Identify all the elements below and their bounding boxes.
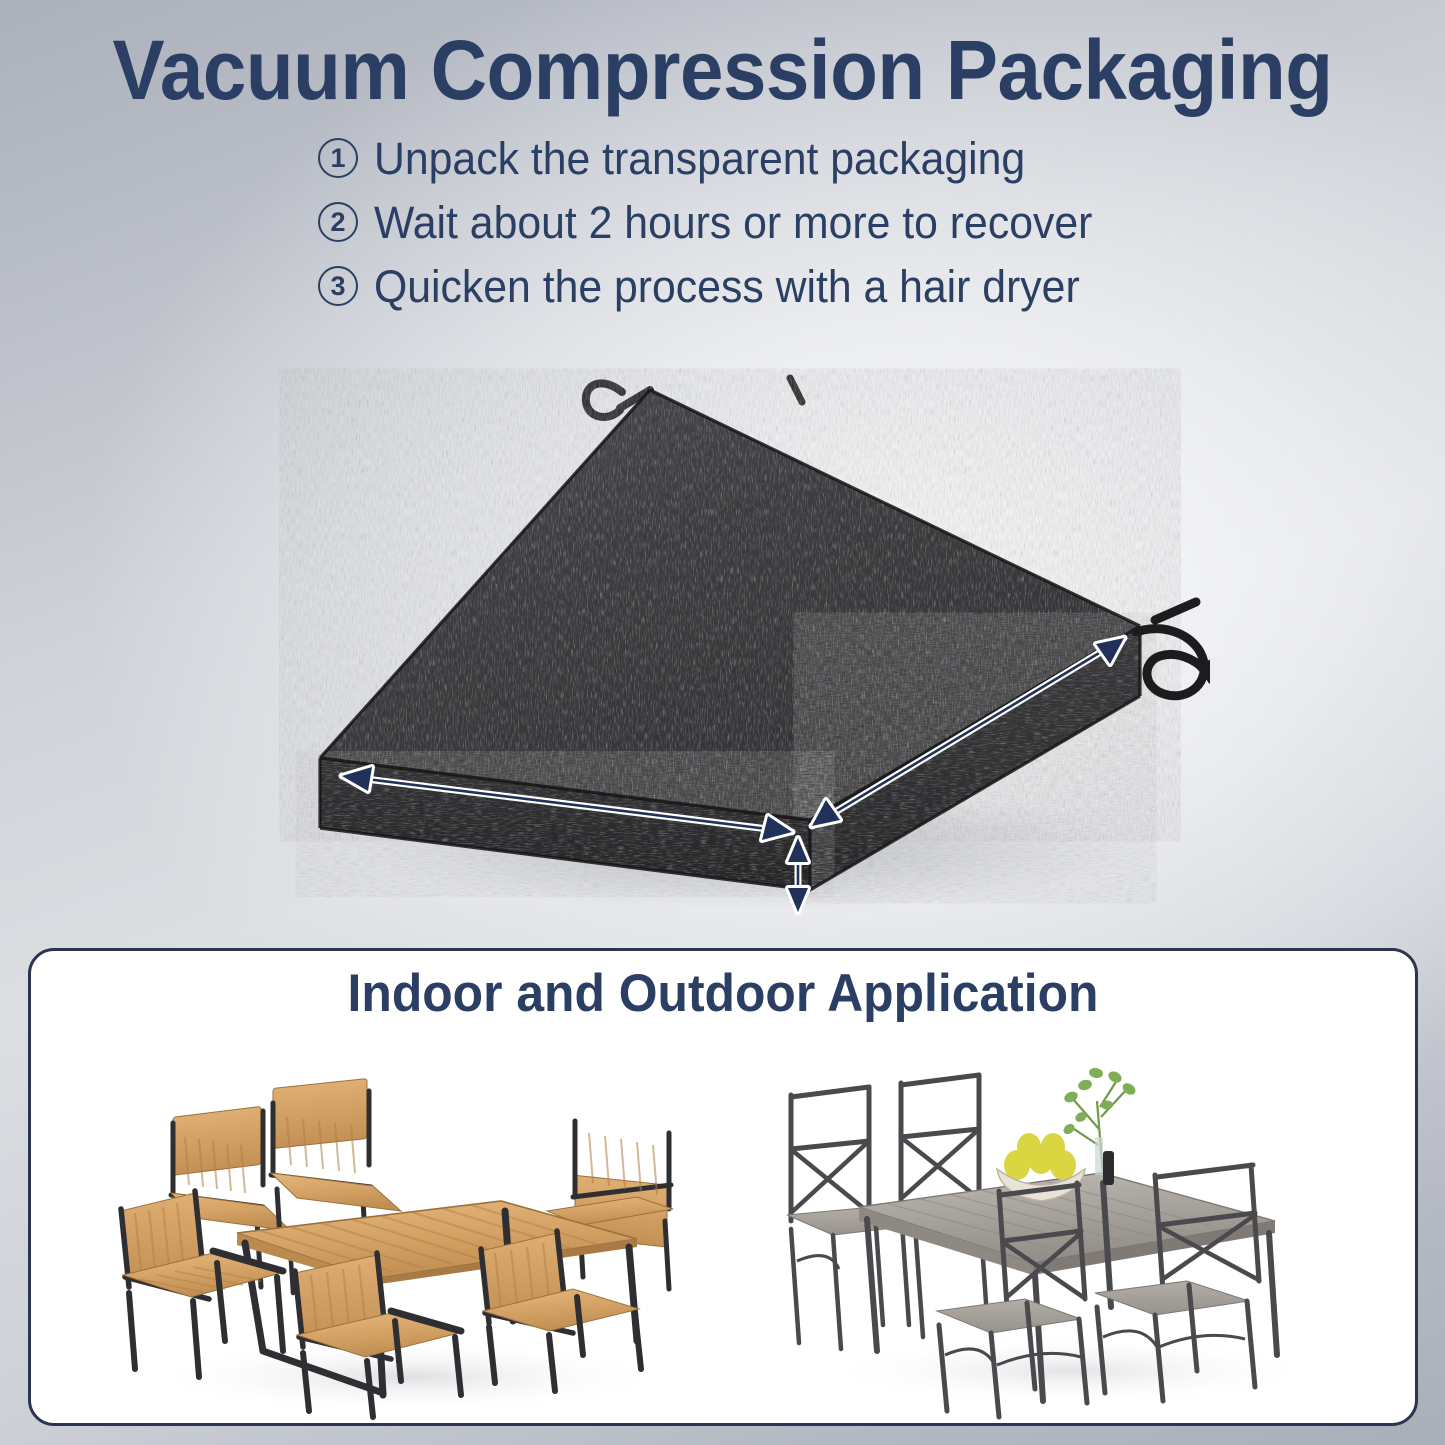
glass-vase bbox=[1095, 1137, 1103, 1175]
cushion-tie-strap-back-right bbox=[790, 378, 802, 402]
scene-outdoor-patio-dining-set bbox=[77, 1025, 727, 1421]
step-text: Quicken the process with a hair dryer bbox=[374, 264, 1080, 309]
chair-seat bbox=[1095, 1281, 1249, 1315]
step-number-badge: 1 bbox=[318, 138, 358, 178]
indoor-dining-set-svg bbox=[751, 1025, 1381, 1421]
pears bbox=[1004, 1133, 1076, 1180]
product-image-section: 20” 20” 2” bbox=[0, 330, 1445, 940]
step-text: Wait about 2 hours or more to recover bbox=[374, 200, 1092, 245]
list-item: 1 Unpack the transparent packaging bbox=[0, 126, 1445, 190]
list-item: 2 Wait about 2 hours or more to recover bbox=[0, 190, 1445, 254]
patio-chair-right bbox=[547, 1121, 673, 1289]
application-panel: Indoor and Outdoor Application bbox=[28, 948, 1418, 1426]
cushion-svg bbox=[250, 350, 1210, 930]
chair-seat bbox=[937, 1299, 1081, 1333]
chair-seat bbox=[271, 1173, 401, 1211]
step-text: Unpack the transparent packaging bbox=[374, 136, 1025, 181]
page-title: Vacuum Compression Packaging bbox=[51, 28, 1395, 112]
list-item: 3 Quicken the process with a hair dryer bbox=[0, 254, 1445, 318]
step-number-badge: 2 bbox=[318, 202, 358, 242]
pepper-grinder bbox=[1103, 1151, 1114, 1185]
scene-indoor-dining-set bbox=[751, 1025, 1381, 1421]
cushion-tie-strap-loop bbox=[1136, 602, 1210, 696]
infographic-page: Vacuum Compression Packaging 1 Unpack th… bbox=[0, 0, 1445, 1445]
chair-x-back bbox=[793, 1143, 867, 1211]
floor-shadow bbox=[142, 1341, 672, 1413]
outdoor-dining-set-svg bbox=[77, 1025, 727, 1421]
cushion-illustration bbox=[250, 350, 1210, 930]
floor-shadow bbox=[821, 1337, 1321, 1405]
steps-list: 1 Unpack the transparent packaging 2 Wai… bbox=[0, 126, 1445, 318]
chair-x-back bbox=[903, 1131, 977, 1197]
application-panel-title: Indoor and Outdoor Application bbox=[73, 967, 1374, 1020]
step-number-badge: 3 bbox=[318, 266, 358, 306]
